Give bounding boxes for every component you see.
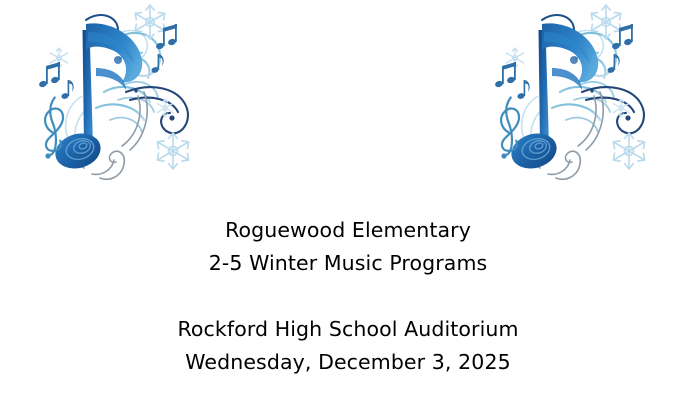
flyer-text-block: Roguewood Elementary 2-5 Winter Music Pr…: [0, 214, 696, 379]
flyer-page: Roguewood Elementary 2-5 Winter Music Pr…: [0, 0, 696, 408]
winter-music-clipart-right: [482, 0, 660, 186]
date-line: Wednesday, December 3, 2025: [0, 346, 696, 379]
winter-music-clipart-left: [26, 0, 204, 186]
program-title-line: 2-5 Winter Music Programs: [0, 247, 696, 280]
venue-line: Rockford High School Auditorium: [0, 313, 696, 346]
school-name-line: Roguewood Elementary: [0, 214, 696, 247]
text-spacer: [0, 280, 696, 313]
